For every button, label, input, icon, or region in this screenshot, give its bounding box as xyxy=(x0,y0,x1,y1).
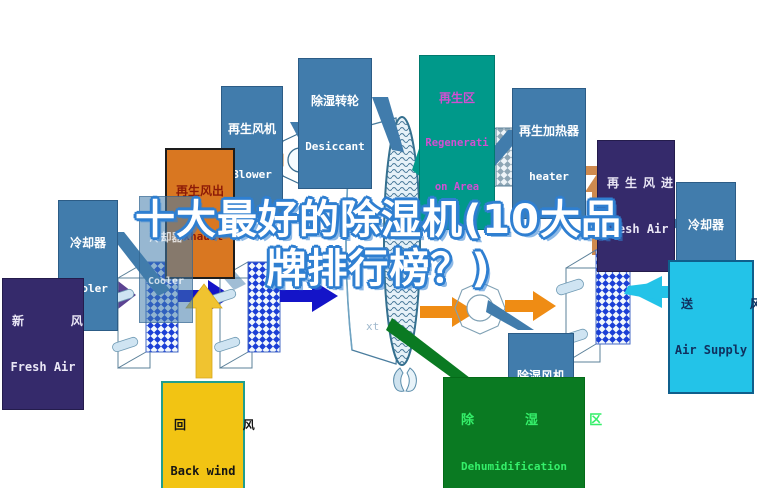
label-desiccant-wheel-cn: 除湿转轮 xyxy=(302,95,368,108)
label-regeneration-fresh-air[interactable]: 再生风进 Fresh Air xyxy=(597,140,675,272)
label-cooler-mid[interactable]: 冷却器 Cooler xyxy=(139,196,193,323)
label-back-wind-en: Back wind xyxy=(166,465,240,478)
label-dehumidification-district[interactable]: 除 湿 区 Dehumidification District xyxy=(443,377,585,488)
label-air-supply-en: Air Supply xyxy=(673,344,749,357)
label-regeneration-heater-cn: 再生加热器 xyxy=(516,125,582,138)
label-regeneration-heater-en: heater xyxy=(516,171,582,183)
label-cooler-left-cn: 冷却器 xyxy=(62,237,114,250)
process-arrow-2 xyxy=(280,280,338,312)
diagram-canvas: xt xyxy=(0,0,757,488)
label-regeneration-area-en2: on Area xyxy=(423,182,491,193)
label-fresh-air-en: Fresh Air xyxy=(6,361,80,374)
label-regeneration-fresh-air-en: Fresh Air xyxy=(601,223,671,236)
label-dehumidification-district-cn: 除 湿 区 xyxy=(447,414,581,428)
label-cooler-mid-cn: 冷却器 xyxy=(143,232,189,244)
label-regeneration-fresh-air-cn: 再生风进 xyxy=(601,177,671,190)
label-regeneration-area[interactable]: 再生区 Regenerati on Area xyxy=(419,55,495,230)
label-air-supply-cn: 送 风 xyxy=(673,298,749,311)
label-cooler-mid-en: Cooler xyxy=(143,277,189,288)
label-air-supply[interactable]: 送 风 Air Supply xyxy=(668,260,754,394)
label-back-wind-cn: 回 风 xyxy=(166,419,240,432)
label-back-wind[interactable]: 回 风 Back wind xyxy=(161,381,245,488)
label-regeneration-area-en1: Regenerati xyxy=(423,138,491,149)
label-regeneration-area-cn: 再生区 xyxy=(423,92,491,105)
label-fresh-air[interactable]: 新 风 Fresh Air xyxy=(2,278,84,410)
rotor-watermark-text: xt xyxy=(366,320,379,333)
label-regeneration-blower-cn: 再生风机 xyxy=(225,123,279,136)
label-regeneration-heater[interactable]: 再生加热器 heater xyxy=(512,88,586,219)
label-dehumidification-district-en1: Dehumidification xyxy=(447,461,581,473)
label-desiccant-wheel-en: Desiccant xyxy=(302,141,368,153)
label-desiccant-wheel[interactable]: 除湿转轮 Desiccant xyxy=(298,58,372,189)
label-cooler-right-cn: 冷却器 xyxy=(680,219,732,232)
label-fresh-air-cn: 新 风 xyxy=(6,315,80,328)
